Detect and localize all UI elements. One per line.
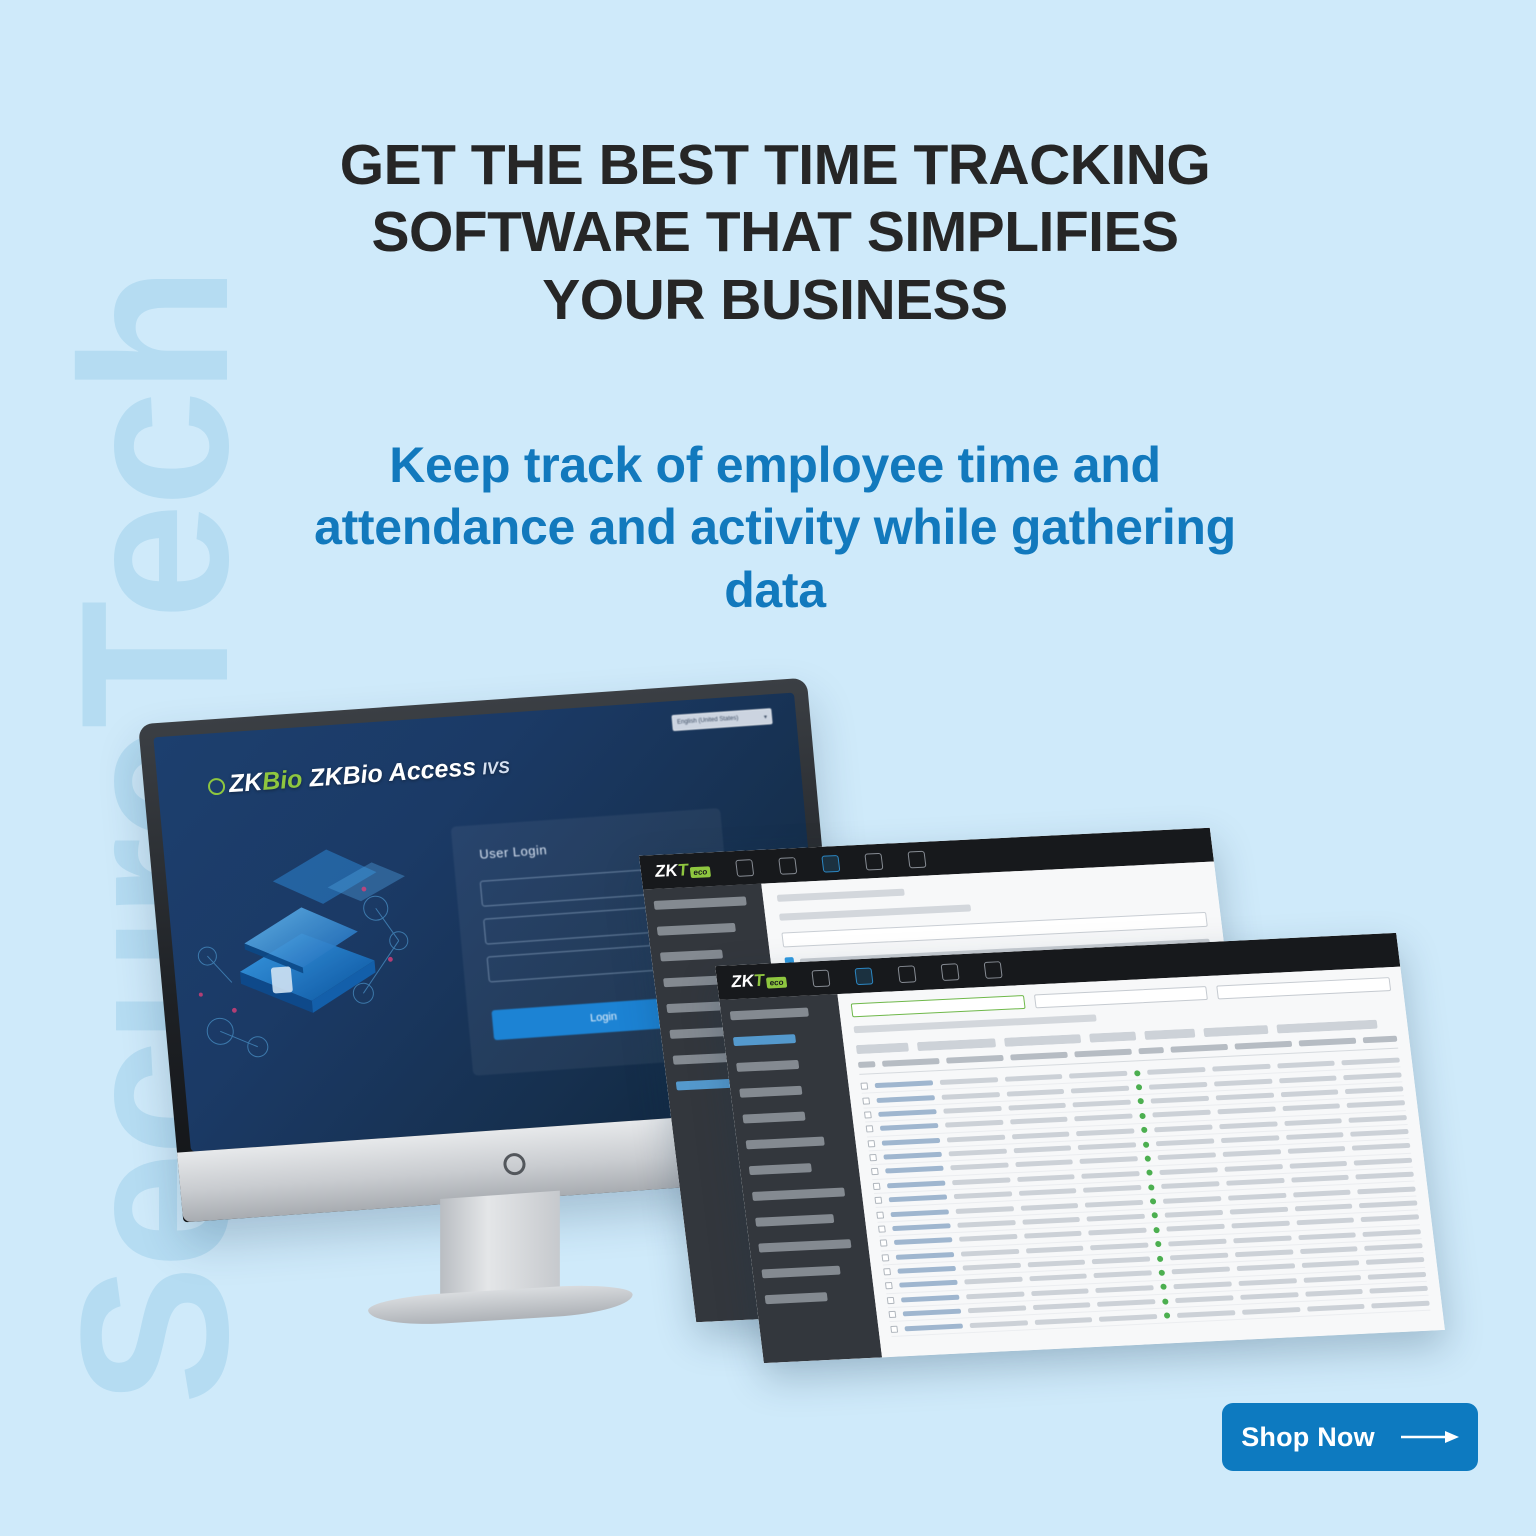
area-name-input[interactable]: [1217, 977, 1392, 999]
language-select[interactable]: English (United States) ▾: [671, 708, 772, 731]
sidebar-item-attendance-device[interactable]: [654, 896, 747, 909]
sidebar-item-map[interactable]: [765, 1292, 828, 1304]
brand-accent: Bio: [261, 765, 304, 796]
language-select-value: English (United States): [677, 716, 739, 726]
column-enable: [1138, 1047, 1164, 1054]
remote-closing-action[interactable]: [1004, 1034, 1081, 1047]
set-home-page-action[interactable]: [1203, 1025, 1268, 1037]
status-dot-icon: [1134, 1070, 1141, 1076]
status-dot-icon: [1136, 1084, 1143, 1090]
row-checkbox[interactable]: [876, 1211, 884, 1218]
row-checkbox[interactable]: [874, 1197, 882, 1204]
row-checkbox[interactable]: [866, 1125, 874, 1132]
row-checkbox[interactable]: [871, 1168, 879, 1175]
row-checkbox[interactable]: [888, 1311, 896, 1318]
disable-action[interactable]: [1144, 1029, 1195, 1040]
status-dot-icon: [1137, 1098, 1144, 1104]
row-checkbox[interactable]: [880, 1240, 888, 1247]
brand-edition: IVS: [481, 758, 510, 779]
device-name-input[interactable]: [851, 995, 1026, 1017]
status-dot-icon: [1160, 1284, 1167, 1290]
sidebar-item-io-board[interactable]: [736, 1060, 799, 1072]
row-checkbox[interactable]: [860, 1083, 868, 1090]
content-section-title: [777, 889, 905, 902]
shield-icon[interactable]: [907, 850, 926, 868]
status-dot-icon: [1162, 1298, 1169, 1304]
brand-circle-icon: [207, 778, 226, 796]
device-list-window[interactable]: ZKTeco: [715, 933, 1445, 1363]
column-serial-number: [946, 1055, 1004, 1064]
row-checkbox[interactable]: [869, 1154, 877, 1161]
device-icon[interactable]: [778, 857, 797, 875]
monitor-logo-icon: [503, 1152, 527, 1175]
brand-product: ZKBio Access: [308, 753, 477, 793]
breadcrumb: [853, 1014, 1096, 1033]
row-checkbox[interactable]: [867, 1140, 875, 1147]
table-body: [860, 1054, 1430, 1337]
sidebar-item-door[interactable]: [739, 1086, 802, 1098]
zkteco-logo: ZKTeco: [730, 970, 787, 993]
brand-prefix: ZK: [228, 768, 264, 798]
upgrade-feed-action[interactable]: [1276, 1020, 1377, 1034]
status-dot-icon: [1150, 1198, 1157, 1204]
status-dot-icon: [1144, 1155, 1151, 1161]
remote-upgrade-action[interactable]: [917, 1038, 996, 1051]
row-checkbox[interactable]: [881, 1254, 889, 1261]
column-device-number: [1074, 1049, 1132, 1058]
sidebar-item-reader[interactable]: [742, 1112, 805, 1124]
shield-icon[interactable]: [983, 961, 1002, 979]
page-subheadline: Keep track of employee time and attendan…: [300, 434, 1250, 622]
sidebar-item-daylight-saving[interactable]: [752, 1187, 845, 1200]
status-dot-icon: [1143, 1141, 1150, 1147]
row-checkbox[interactable]: [885, 1282, 893, 1289]
sidebar-item-device-active[interactable]: [733, 1034, 796, 1046]
sidebar-item-device-monitoring[interactable]: [755, 1214, 834, 1227]
app-brand-logo: ZKBio ZKBio AccessIVS: [207, 751, 511, 801]
sidebar-item-alarm-monitoring[interactable]: [761, 1266, 840, 1279]
status-dot-icon: [1146, 1170, 1153, 1176]
column-verify-mode: [1299, 1038, 1357, 1047]
status-dot-icon: [1139, 1113, 1146, 1119]
user-icon[interactable]: [735, 859, 754, 877]
column-ip-address: [1010, 1052, 1068, 1061]
hero-product-image: ZKBio ZKBio AccessIVS English (United St…: [140, 690, 1510, 1390]
settings-icon[interactable]: [821, 854, 840, 872]
column-device-name: [882, 1058, 940, 1067]
row-checkbox[interactable]: [890, 1325, 898, 1332]
row-checkbox[interactable]: [883, 1268, 891, 1275]
chevron-down-icon: ▾: [764, 713, 768, 720]
sidebar-item-area-settings[interactable]: [657, 923, 736, 936]
sidebar-item-auxiliary-input[interactable]: [746, 1137, 825, 1150]
row-checkbox[interactable]: [887, 1297, 895, 1304]
column-select: [858, 1061, 876, 1068]
sidebar-item-event-type[interactable]: [749, 1163, 812, 1175]
window-content: [837, 967, 1444, 1358]
row-checkbox[interactable]: [864, 1111, 872, 1118]
report-icon[interactable]: [940, 963, 959, 981]
status-dot-icon: [1141, 1127, 1148, 1133]
refresh-action[interactable]: [856, 1043, 909, 1054]
page-headline: GET THE BEST TIME TRACKING SOFTWARE THAT…: [300, 132, 1250, 334]
arrow-right-icon: [1401, 1429, 1459, 1445]
row-checkbox[interactable]: [878, 1225, 886, 1232]
status-dot-icon: [1158, 1270, 1165, 1276]
status-dot-icon: [1151, 1213, 1158, 1219]
status-dot-icon: [1155, 1241, 1162, 1247]
column-status: [1235, 1041, 1293, 1050]
status-dot-icon: [1153, 1227, 1160, 1233]
device-icon[interactable]: [854, 967, 873, 985]
row-checkbox[interactable]: [862, 1097, 870, 1104]
column-command: [1363, 1036, 1398, 1044]
content-subtitle: [779, 904, 971, 920]
settings-icon[interactable]: [897, 965, 916, 983]
user-icon[interactable]: [811, 969, 830, 987]
serial-number-input[interactable]: [1034, 986, 1209, 1008]
column-device-time-zone: [1171, 1044, 1229, 1053]
status-dot-icon: [1148, 1184, 1155, 1190]
sidebar-item-device-time[interactable]: [660, 950, 723, 962]
sidebar-item-realtime-monitoring[interactable]: [758, 1239, 851, 1252]
tech-illustration: [173, 830, 430, 1095]
row-checkbox[interactable]: [873, 1183, 881, 1190]
report-icon[interactable]: [864, 852, 883, 870]
status-dot-icon: [1164, 1312, 1171, 1318]
sidebar-item-device[interactable]: [730, 1008, 809, 1021]
shop-now-button[interactable]: Shop Now: [1222, 1403, 1478, 1471]
zkteco-logo: ZKTeco: [654, 859, 711, 882]
status-dot-icon: [1157, 1255, 1164, 1261]
copy-block: GET THE BEST TIME TRACKING SOFTWARE THAT…: [300, 132, 1250, 621]
enable-action[interactable]: [1089, 1031, 1136, 1042]
shop-now-label: Shop Now: [1241, 1422, 1375, 1453]
login-title: User Login: [479, 842, 548, 862]
